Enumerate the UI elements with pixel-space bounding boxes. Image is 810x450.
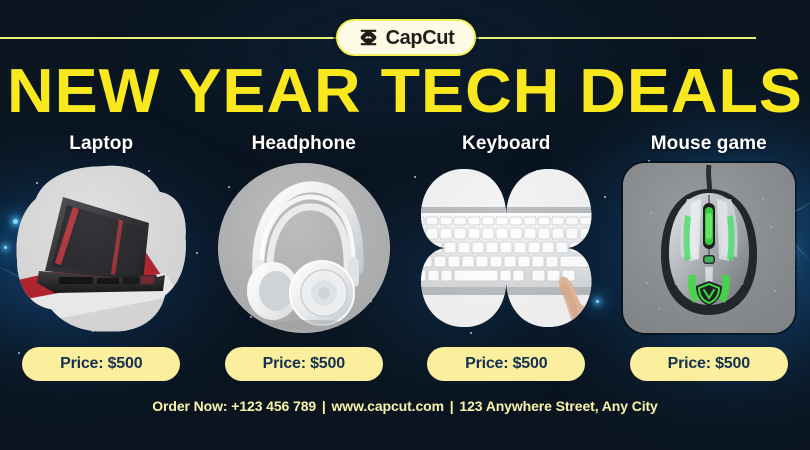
promo-banner: CapCut NEW YEAR TECH DEALS [0, 0, 810, 450]
footer-separator: | [320, 398, 328, 414]
footer-separator: | [448, 398, 456, 414]
capcut-logo-text: CapCut [386, 28, 455, 48]
product-label: Headphone [203, 132, 406, 156]
price-badge-mouse[interactable]: Price: $500 [630, 347, 788, 381]
capcut-hourglass-icon [358, 27, 379, 48]
header-rule-left [0, 37, 352, 39]
mouse-product-image [623, 163, 795, 333]
product-card-laptop[interactable]: Laptop [0, 132, 203, 382]
header-rule-right [458, 37, 756, 39]
keyboard-product-image [420, 163, 592, 333]
headphone-product-image [218, 163, 390, 333]
laptop-product-image [15, 163, 187, 333]
product-grid: Laptop [0, 132, 810, 382]
product-label: Mouse game [608, 132, 810, 156]
product-label: Laptop [0, 132, 203, 156]
product-card-mouse[interactable]: Mouse game [608, 132, 810, 382]
price-badge-laptop[interactable]: Price: $500 [22, 347, 180, 381]
product-card-keyboard[interactable]: Keyboard [405, 132, 608, 382]
page-title: NEW YEAR TECH DEALS [0, 57, 810, 127]
footer-website[interactable]: www.capcut.com [332, 398, 444, 414]
footer-order-phone: Order Now: +123 456 789 [152, 398, 316, 414]
footer-address: 123 Anywhere Street, Any City [459, 398, 657, 414]
price-badge-keyboard[interactable]: Price: $500 [427, 347, 585, 381]
product-card-headphone[interactable]: Headphone [203, 132, 406, 382]
footer-contact-bar: Order Now: +123 456 789 | www.capcut.com… [0, 398, 810, 414]
price-badge-headphone[interactable]: Price: $500 [225, 347, 383, 381]
capcut-logo[interactable]: CapCut [336, 19, 476, 56]
product-label: Keyboard [405, 132, 608, 156]
price-row: Price: $500 Price: $500 Price: $500 Pric… [0, 347, 810, 383]
